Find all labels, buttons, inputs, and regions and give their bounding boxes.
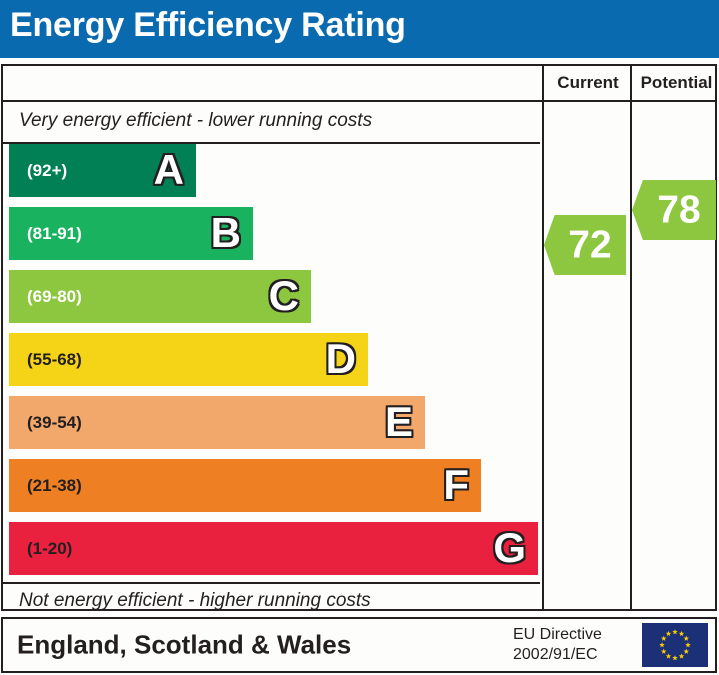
band-g-range: (1-20)	[27, 539, 72, 559]
band-a: (92+) A	[9, 144, 196, 197]
current-rating-arrow: 72	[544, 215, 626, 275]
caption-not-efficient: Not energy efficient - higher running co…	[3, 590, 556, 612]
band-d-letter: D	[326, 338, 356, 380]
band-g-letter: G	[493, 527, 526, 569]
band-b: (81-91) B	[9, 207, 253, 260]
footer-directive-label: EU Directive 2002/91/EC	[513, 625, 602, 665]
column-divider-right	[630, 66, 632, 609]
column-header-potential: Potential	[634, 66, 719, 100]
band-f: (21-38) F	[9, 459, 481, 512]
band-c-letter: C	[269, 275, 299, 317]
band-e: (39-54) E	[9, 396, 425, 449]
band-a-letter: A	[154, 149, 184, 191]
footer-directive-line1: EU Directive	[513, 625, 602, 645]
band-c: (69-80) C	[9, 270, 311, 323]
band-f-range: (21-38)	[27, 476, 82, 496]
band-g: (1-20) G	[9, 522, 538, 575]
band-list: (92+) A (81-91) B (69-80) C (55-68) D (3…	[3, 144, 540, 582]
energy-efficiency-rating-chart: Energy Efficiency Rating Current Potenti…	[0, 0, 719, 675]
footer-bar: England, Scotland & Wales EU Directive 2…	[1, 617, 717, 673]
eu-flag-icon	[642, 623, 708, 667]
column-header-row: Current Potential	[3, 66, 715, 102]
band-e-range: (39-54)	[27, 413, 82, 433]
page-title: Energy Efficiency Rating	[10, 6, 406, 45]
eu-flag-svg	[642, 623, 708, 667]
band-d: (55-68) D	[9, 333, 368, 386]
potential-rating-value: 78	[632, 191, 716, 230]
potential-rating-arrow: 78	[632, 180, 716, 240]
band-f-letter: F	[443, 464, 469, 506]
band-e-letter: E	[385, 401, 413, 443]
current-rating-value: 72	[544, 226, 626, 265]
footer-region-label: England, Scotland & Wales	[17, 630, 351, 661]
column-header-current: Current	[544, 66, 632, 100]
band-d-range: (55-68)	[27, 350, 82, 370]
column-divider-left	[542, 66, 544, 609]
rating-table: Current Potential Very energy efficient …	[1, 64, 717, 611]
caption-very-efficient: Very energy efficient - lower running co…	[3, 110, 556, 132]
band-b-letter: B	[211, 212, 241, 254]
band-b-range: (81-91)	[27, 224, 82, 244]
band-c-range: (69-80)	[27, 287, 82, 307]
chart-title-bar: Energy Efficiency Rating	[0, 0, 719, 58]
footer-directive-line2: 2002/91/EC	[513, 645, 602, 665]
caption-rule-bottom	[3, 582, 540, 584]
band-a-range: (92+)	[27, 161, 67, 181]
